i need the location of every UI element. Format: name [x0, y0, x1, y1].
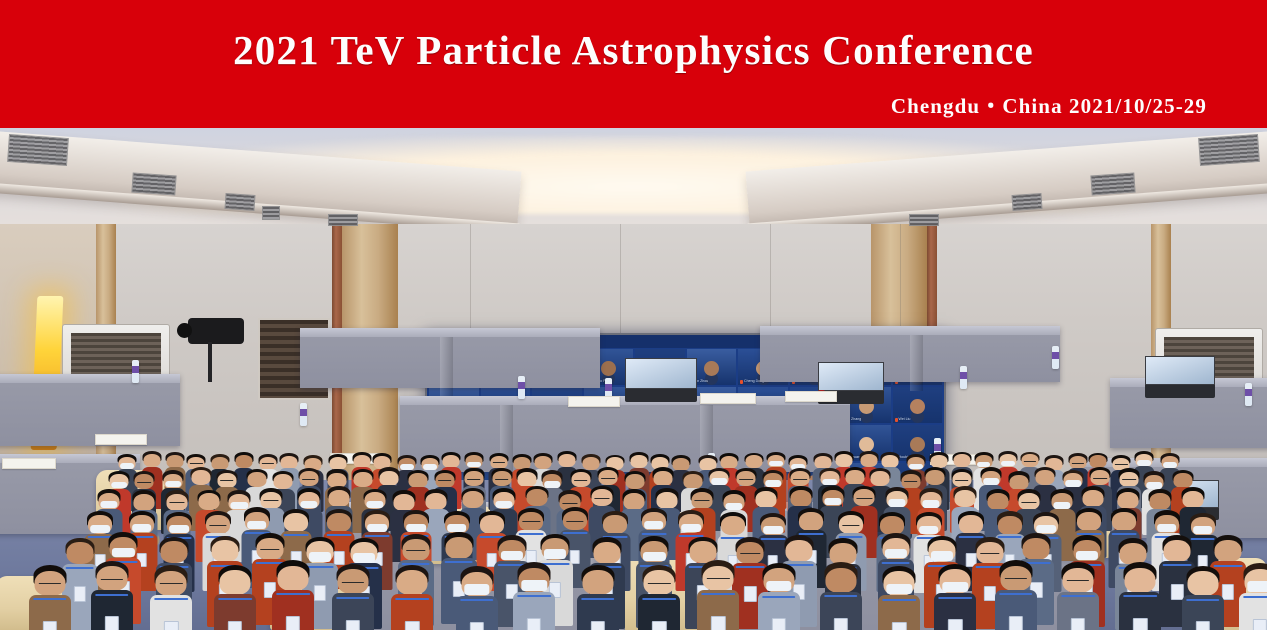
- lanyard: [218, 598, 252, 600]
- attendee: [91, 561, 133, 630]
- name-badge: [527, 618, 541, 630]
- face-mask-icon: [501, 551, 523, 560]
- face-mask-icon: [496, 501, 513, 508]
- eyeglasses-icon: [1022, 502, 1037, 503]
- attendee-head: [277, 566, 308, 591]
- lanyard: [1112, 533, 1137, 535]
- notepad: [2, 458, 56, 469]
- name-badge: [405, 621, 419, 630]
- attendee-head: [480, 515, 504, 534]
- face-mask-icon: [766, 581, 791, 592]
- face-mask-icon: [1157, 524, 1177, 532]
- conference-group-photo-poster: 2021 TeV Particle Astrophysics Conferenc…: [0, 0, 1267, 630]
- attendee: [150, 565, 192, 630]
- attendee-head: [954, 490, 975, 507]
- eyeglasses-icon: [1093, 478, 1107, 479]
- attendee-head: [247, 472, 266, 487]
- attendee-head: [1187, 571, 1218, 596]
- name-badge: [346, 620, 360, 630]
- attendee-head: [66, 542, 93, 564]
- lanyard: [762, 596, 796, 598]
- notepad: [785, 391, 837, 402]
- attendee: [878, 566, 920, 630]
- face-mask-icon: [353, 553, 375, 562]
- attendee: [697, 560, 739, 630]
- lanyard: [444, 561, 473, 563]
- name-badge: [228, 621, 242, 630]
- attendee-head: [1125, 568, 1156, 593]
- eyeglasses-icon: [793, 479, 807, 480]
- lanyard: [641, 533, 666, 535]
- eyeglasses-icon: [739, 479, 753, 480]
- attendee: [934, 564, 976, 630]
- attendee-head: [953, 454, 970, 467]
- eyeglasses-icon: [260, 549, 279, 550]
- laptop-screen: [1145, 356, 1215, 385]
- lanyard: [643, 598, 677, 600]
- lanyard: [999, 593, 1033, 595]
- attendee-head: [192, 470, 211, 485]
- water-bottle: [960, 366, 967, 389]
- ceiling-vent-icon: [328, 214, 358, 226]
- ceiling-vent-icon: [1011, 193, 1042, 211]
- attendee-head: [998, 516, 1022, 535]
- eyeglasses-icon: [438, 480, 452, 481]
- table-row: [300, 328, 600, 388]
- lanyard: [460, 599, 494, 601]
- lanyard: [1124, 595, 1158, 597]
- attendee-head: [393, 494, 414, 511]
- table-top: [0, 374, 180, 383]
- lanyard: [824, 595, 858, 597]
- eyeglasses-icon: [695, 500, 710, 501]
- attendee: [456, 566, 498, 630]
- attendee-head: [329, 490, 350, 507]
- eyeglasses-icon: [38, 583, 60, 584]
- eyeglasses-icon: [566, 521, 583, 522]
- attendee-head: [354, 472, 373, 487]
- attendee-head: [721, 516, 745, 535]
- name-badge: [711, 616, 725, 630]
- attendee-head: [1035, 470, 1054, 485]
- face-mask-icon: [447, 524, 467, 532]
- attendee-head: [684, 474, 703, 489]
- face-mask-icon: [931, 551, 953, 560]
- face-mask-icon: [977, 462, 991, 467]
- eyeglasses-icon: [467, 479, 481, 480]
- attendee-head: [273, 474, 292, 489]
- attendee-head: [1118, 492, 1139, 509]
- eyeglasses-icon: [1115, 464, 1127, 465]
- attendee-head: [443, 455, 460, 468]
- eyeglasses-icon: [262, 463, 274, 464]
- lanyard: [95, 594, 129, 596]
- lanyard: [327, 534, 352, 536]
- attendee: [820, 562, 862, 630]
- notepad: [700, 393, 756, 404]
- attendee-head: [284, 513, 308, 532]
- name-badge: [1222, 584, 1234, 600]
- name-badge: [42, 621, 56, 630]
- name-badge: [1071, 618, 1085, 630]
- face-mask-icon: [919, 526, 939, 534]
- face-mask-icon: [111, 482, 127, 488]
- eyeglasses-icon: [1005, 578, 1027, 579]
- ceiling-vent-icon: [7, 134, 69, 166]
- name-badge: [1133, 618, 1147, 630]
- eyeglasses-icon: [342, 582, 364, 583]
- eyeglasses-icon: [1072, 463, 1084, 464]
- attendee-head: [1112, 512, 1136, 531]
- face-mask-icon: [922, 500, 939, 507]
- lanyard: [702, 593, 736, 595]
- table-skirt-fold: [910, 335, 923, 391]
- lanyard: [155, 598, 189, 600]
- attendee-head: [166, 455, 183, 468]
- attendee-head: [746, 455, 763, 468]
- face-mask-icon: [763, 526, 783, 534]
- attendee-head: [534, 456, 551, 469]
- attendee-head: [280, 456, 297, 469]
- lanyard: [581, 598, 615, 600]
- lanyard: [1243, 596, 1267, 598]
- eyeglasses-icon: [264, 500, 279, 501]
- attendee-head: [871, 471, 890, 486]
- face-mask-icon: [467, 462, 481, 467]
- name-badge: [948, 619, 962, 630]
- attendee-head: [1215, 540, 1242, 562]
- attendee-head: [799, 512, 823, 531]
- attendee-head: [785, 540, 812, 562]
- attendee-head: [1164, 540, 1191, 562]
- attendee-head: [1149, 493, 1170, 510]
- attendee: [638, 565, 680, 630]
- face-mask-icon: [983, 478, 999, 484]
- attendee-head: [1174, 473, 1193, 488]
- attendee-head: [630, 455, 647, 468]
- lanyard: [881, 562, 910, 564]
- laptop-screen: [625, 358, 697, 389]
- attendee: [577, 565, 619, 630]
- attendee-head: [558, 454, 575, 467]
- attendee-head: [1023, 538, 1050, 560]
- face-mask-icon: [1146, 482, 1162, 488]
- face-mask-icon: [824, 498, 841, 505]
- face-mask-icon: [464, 584, 489, 595]
- attendee-head: [1182, 491, 1203, 508]
- eyeglasses-icon: [574, 480, 588, 481]
- eyeglasses-icon: [648, 583, 670, 584]
- attendee-head: [380, 471, 399, 486]
- attendee-head: [409, 473, 428, 488]
- eyeglasses-icon: [955, 480, 969, 481]
- name-badge: [834, 618, 848, 630]
- eyeglasses-icon: [1123, 479, 1137, 480]
- table-skirt-fold: [440, 337, 453, 397]
- eyeglasses-icon: [100, 579, 122, 580]
- face-mask-icon: [681, 524, 701, 532]
- face-mask-icon: [643, 552, 665, 561]
- face-mask-icon: [887, 584, 912, 595]
- water-bottle: [1052, 346, 1059, 369]
- group-photo: Antonio MarinelliPasquale BlasiFelix Aha…: [0, 128, 1267, 630]
- lanyard: [517, 595, 551, 597]
- name-badge: [104, 616, 118, 630]
- face-mask-icon: [644, 521, 664, 529]
- attendee-head: [397, 570, 428, 595]
- face-mask-icon: [120, 463, 134, 468]
- attendee-head: [134, 494, 155, 511]
- face-mask-icon: [100, 501, 117, 508]
- eyeglasses-icon: [137, 482, 151, 483]
- ceiling-vent-icon: [262, 206, 280, 220]
- eyeglasses-icon: [493, 462, 505, 463]
- attendee-head: [445, 537, 472, 559]
- ceiling-vent-icon: [1090, 172, 1135, 195]
- face-mask-icon: [132, 524, 152, 532]
- conference-title: 2021 TeV Particle Astrophysics Conferenc…: [0, 26, 1267, 74]
- attendee-head: [212, 457, 229, 470]
- laptop[interactable]: [625, 358, 697, 402]
- face-mask-icon: [521, 580, 546, 591]
- name-badge: [1253, 619, 1267, 630]
- attendee: [1182, 566, 1224, 630]
- lanyard: [33, 598, 67, 600]
- eyeglasses-icon: [220, 480, 234, 481]
- face-mask-icon: [769, 461, 783, 466]
- attendee-head: [603, 515, 627, 534]
- eyeglasses-icon: [523, 521, 540, 522]
- attendee-head: [144, 454, 161, 467]
- attendee-head: [161, 541, 188, 563]
- attendee-head: [582, 570, 613, 595]
- attendee-head: [353, 455, 370, 468]
- eyeglasses-icon: [169, 502, 184, 503]
- face-mask-icon: [169, 525, 189, 533]
- attendee-head: [211, 540, 238, 562]
- attendee-head: [926, 470, 945, 485]
- face-mask-icon: [1001, 461, 1015, 466]
- lanyard: [1186, 599, 1220, 601]
- face-mask-icon: [822, 479, 838, 485]
- face-mask-icon: [407, 524, 427, 532]
- eyeglasses-icon: [980, 553, 999, 554]
- attendee: [513, 562, 555, 630]
- face-mask-icon: [366, 501, 383, 508]
- attendee-head: [462, 491, 483, 508]
- name-badge: [1196, 621, 1210, 630]
- name-badge: [286, 616, 300, 630]
- table-top: [760, 326, 1060, 335]
- lanyard: [939, 597, 973, 599]
- eyeglasses-icon: [1024, 461, 1036, 462]
- face-mask-icon: [943, 582, 968, 593]
- face-mask-icon: [765, 480, 781, 486]
- attendee: [29, 565, 71, 630]
- ceiling-vent-icon: [1198, 134, 1260, 166]
- eyeglasses-icon: [406, 550, 425, 551]
- eyeglasses-icon: [495, 479, 509, 480]
- attendee-head: [836, 454, 853, 467]
- attendee: [272, 560, 314, 630]
- table-row: [0, 374, 180, 446]
- attendee-head: [199, 493, 220, 510]
- water-bottle: [132, 360, 139, 383]
- face-mask-icon: [247, 521, 267, 529]
- face-mask-icon: [711, 478, 727, 484]
- face-mask-icon: [1193, 526, 1213, 534]
- eyeglasses-icon: [857, 498, 872, 499]
- face-mask-icon: [1053, 502, 1070, 509]
- face-mask-icon: [909, 464, 923, 469]
- eyeglasses-icon: [190, 463, 202, 464]
- eyeglasses-icon: [160, 583, 182, 584]
- laptop-screen: [818, 362, 884, 391]
- attendee: [1239, 563, 1267, 630]
- attendee-head: [959, 515, 983, 534]
- attendee-head: [1077, 512, 1101, 531]
- attendee-head: [755, 491, 776, 508]
- eyeglasses-icon: [842, 525, 859, 526]
- face-mask-icon: [1247, 581, 1267, 592]
- attendee-head: [330, 457, 347, 470]
- face-mask-icon: [367, 524, 387, 532]
- attendee-head: [527, 489, 548, 506]
- attendee-head: [846, 470, 865, 485]
- lanyard: [1061, 595, 1095, 597]
- attendee: [1119, 562, 1161, 630]
- name-badge: [314, 585, 326, 601]
- water-bottle: [1245, 383, 1252, 406]
- name-badge: [892, 622, 906, 630]
- ceiling-vent-icon: [224, 193, 255, 211]
- ceiling-vent-icon: [131, 172, 176, 195]
- lanyard: [276, 593, 310, 595]
- face-mask-icon: [1076, 551, 1098, 560]
- attendee-head: [861, 454, 878, 467]
- face-mask-icon: [725, 503, 742, 510]
- attendee: [214, 565, 256, 630]
- attendee-head: [327, 513, 351, 532]
- table-top: [300, 328, 600, 337]
- eyeglasses-icon: [1067, 580, 1089, 581]
- conference-banner: 2021 TeV Particle Astrophysics Conferenc…: [0, 0, 1267, 128]
- face-mask-icon: [544, 549, 566, 558]
- conference-location-dates: Chengdu・China 2021/10/25-29: [891, 90, 1207, 120]
- water-bottle: [300, 403, 307, 426]
- face-mask-icon: [1037, 525, 1057, 533]
- attendee-head: [882, 455, 899, 468]
- attendee: [995, 560, 1037, 630]
- eyeglasses-icon: [601, 478, 615, 479]
- face-mask-icon: [884, 549, 906, 558]
- water-bottle: [518, 376, 525, 399]
- eyeglasses-icon: [209, 525, 226, 526]
- table-row: [760, 326, 1060, 382]
- eyeglasses-icon: [707, 578, 729, 579]
- name-badge: [772, 618, 786, 630]
- attendee: [758, 563, 800, 630]
- name-badge: [470, 622, 484, 630]
- attendee-head: [653, 471, 672, 486]
- ceiling-vent-icon: [909, 214, 939, 226]
- eyeglasses-icon: [741, 553, 760, 554]
- name-badge: [1009, 616, 1023, 630]
- attendee-head: [790, 490, 811, 507]
- laptop[interactable]: [1145, 356, 1215, 398]
- eyeglasses-icon: [594, 498, 609, 499]
- eyeglasses-icon: [904, 481, 918, 482]
- attendee: [391, 565, 433, 630]
- notepad: [95, 434, 147, 445]
- attendee-head: [425, 493, 446, 510]
- face-mask-icon: [1137, 460, 1151, 465]
- attendee-head: [1082, 490, 1103, 507]
- face-mask-icon: [300, 501, 317, 508]
- attendee: [1057, 562, 1099, 630]
- attendee-head: [656, 492, 677, 509]
- attendee-head: [673, 458, 690, 471]
- attendee-head: [626, 474, 645, 489]
- eyeglasses-icon: [562, 503, 577, 504]
- lanyard: [336, 597, 370, 599]
- attendee-head: [825, 568, 856, 593]
- face-mask-icon: [112, 548, 134, 557]
- attendee-head: [593, 542, 620, 564]
- notepad: [568, 396, 620, 407]
- lanyard: [882, 599, 916, 601]
- name-badge: [744, 586, 756, 602]
- name-badge: [652, 621, 666, 630]
- face-mask-icon: [1163, 462, 1177, 467]
- face-mask-icon: [165, 481, 181, 487]
- name-badge: [590, 621, 604, 630]
- attendee-head: [220, 570, 251, 595]
- attendee: [332, 564, 374, 630]
- name-badge: [73, 586, 85, 602]
- attendee-head: [236, 455, 253, 468]
- attendee-head: [988, 493, 1009, 510]
- lanyard: [396, 598, 430, 600]
- name-badge: [164, 621, 178, 630]
- face-mask-icon: [889, 499, 906, 506]
- attendee-head: [517, 472, 536, 487]
- attendee-head: [1010, 475, 1029, 490]
- eyeglasses-icon: [302, 479, 316, 480]
